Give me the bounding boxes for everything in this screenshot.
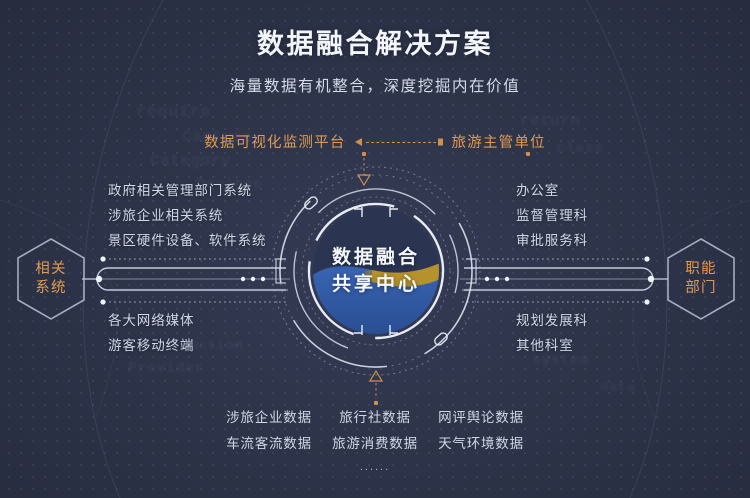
related-systems-hexagon[interactable]: 相关 系统 xyxy=(14,236,88,322)
left-hex-line2: 系统 xyxy=(35,279,66,298)
right-upper-department-list: 办公室 监督管理科 审批服务科 xyxy=(516,178,588,253)
data-item[interactable]: 旅行社数据 xyxy=(322,405,428,431)
right-hex-line2: 部门 xyxy=(685,279,716,298)
list-item[interactable]: 其他科室 xyxy=(516,333,588,358)
background-code-text: return xyxy=(520,112,581,130)
background-code-text: data xyxy=(600,380,636,396)
data-item[interactable]: 涉旅企业数据 xyxy=(216,405,322,431)
header: 数据融合解决方案 海量数据有机整合，深度挖掘内在价值 xyxy=(0,22,750,96)
page-subtitle: 海量数据有机整合，深度挖掘内在价值 xyxy=(0,74,750,96)
right-lower-department-list: 规划发展科 其他科室 xyxy=(516,308,588,358)
background-code-text: Provider xyxy=(128,360,204,377)
list-item[interactable]: 办公室 xyxy=(516,178,588,203)
background-code-text: Category xyxy=(150,152,231,170)
top-right-connector xyxy=(524,152,532,162)
data-item[interactable]: 网评舆论数据 xyxy=(428,405,534,431)
left-lower-source-list: 各大网络媒体 游客移动终端 xyxy=(108,308,194,358)
data-item[interactable]: 旅游消费数据 xyxy=(322,431,428,457)
page-title: 数据融合解决方案 xyxy=(0,22,750,61)
functional-departments-hexagon[interactable]: 职能 部门 xyxy=(664,236,738,322)
data-fusion-center[interactable]: 数据融合 共享中心 xyxy=(268,163,484,379)
right-hex-line1: 职能 xyxy=(685,260,716,279)
tourism-authority-label[interactable]: 旅游主管单位 xyxy=(452,131,546,152)
left-hex-line1: 相关 xyxy=(35,260,66,279)
more-items-ellipsis: ...... xyxy=(360,461,390,473)
center-rings-graphic xyxy=(268,163,484,379)
bottom-row-2: 车流客流数据 旅游消费数据 天气环境数据 xyxy=(216,431,534,457)
visualization-platform-label[interactable]: 数据可视化监测平台 xyxy=(204,131,345,152)
data-item[interactable]: 天气环境数据 xyxy=(428,431,534,457)
left-upper-source-list: 政府相关管理部门系统 涉旅企业相关系统 景区硬件设备、软件系统 xyxy=(108,178,266,253)
list-item[interactable]: 监督管理科 xyxy=(516,203,588,228)
bottom-data-grid: 涉旅企业数据 旅行社数据 网评舆论数据 车流客流数据 旅游消费数据 天气环境数据… xyxy=(0,405,750,473)
dotted-arrow-left-icon xyxy=(355,136,443,148)
list-item[interactable]: 各大网络媒体 xyxy=(108,308,194,333)
data-item[interactable]: 车流客流数据 xyxy=(216,431,322,457)
list-item[interactable]: 景区硬件设备、软件系统 xyxy=(108,228,266,253)
list-item[interactable]: 游客移动终端 xyxy=(108,333,194,358)
bottom-row-1: 涉旅企业数据 旅行社数据 网评舆论数据 xyxy=(216,405,534,431)
list-item[interactable]: 涉旅企业相关系统 xyxy=(108,203,266,228)
list-item[interactable]: 政府相关管理部门系统 xyxy=(108,178,266,203)
list-item[interactable]: 审批服务科 xyxy=(516,228,588,253)
background-code-text: require xyxy=(136,103,211,122)
list-item[interactable]: 规划发展科 xyxy=(516,308,588,333)
top-node-row: 数据可视化监测平台 旅游主管单位 xyxy=(0,131,750,152)
infographic-stage: require Capture Category Devices Provide… xyxy=(0,0,750,498)
